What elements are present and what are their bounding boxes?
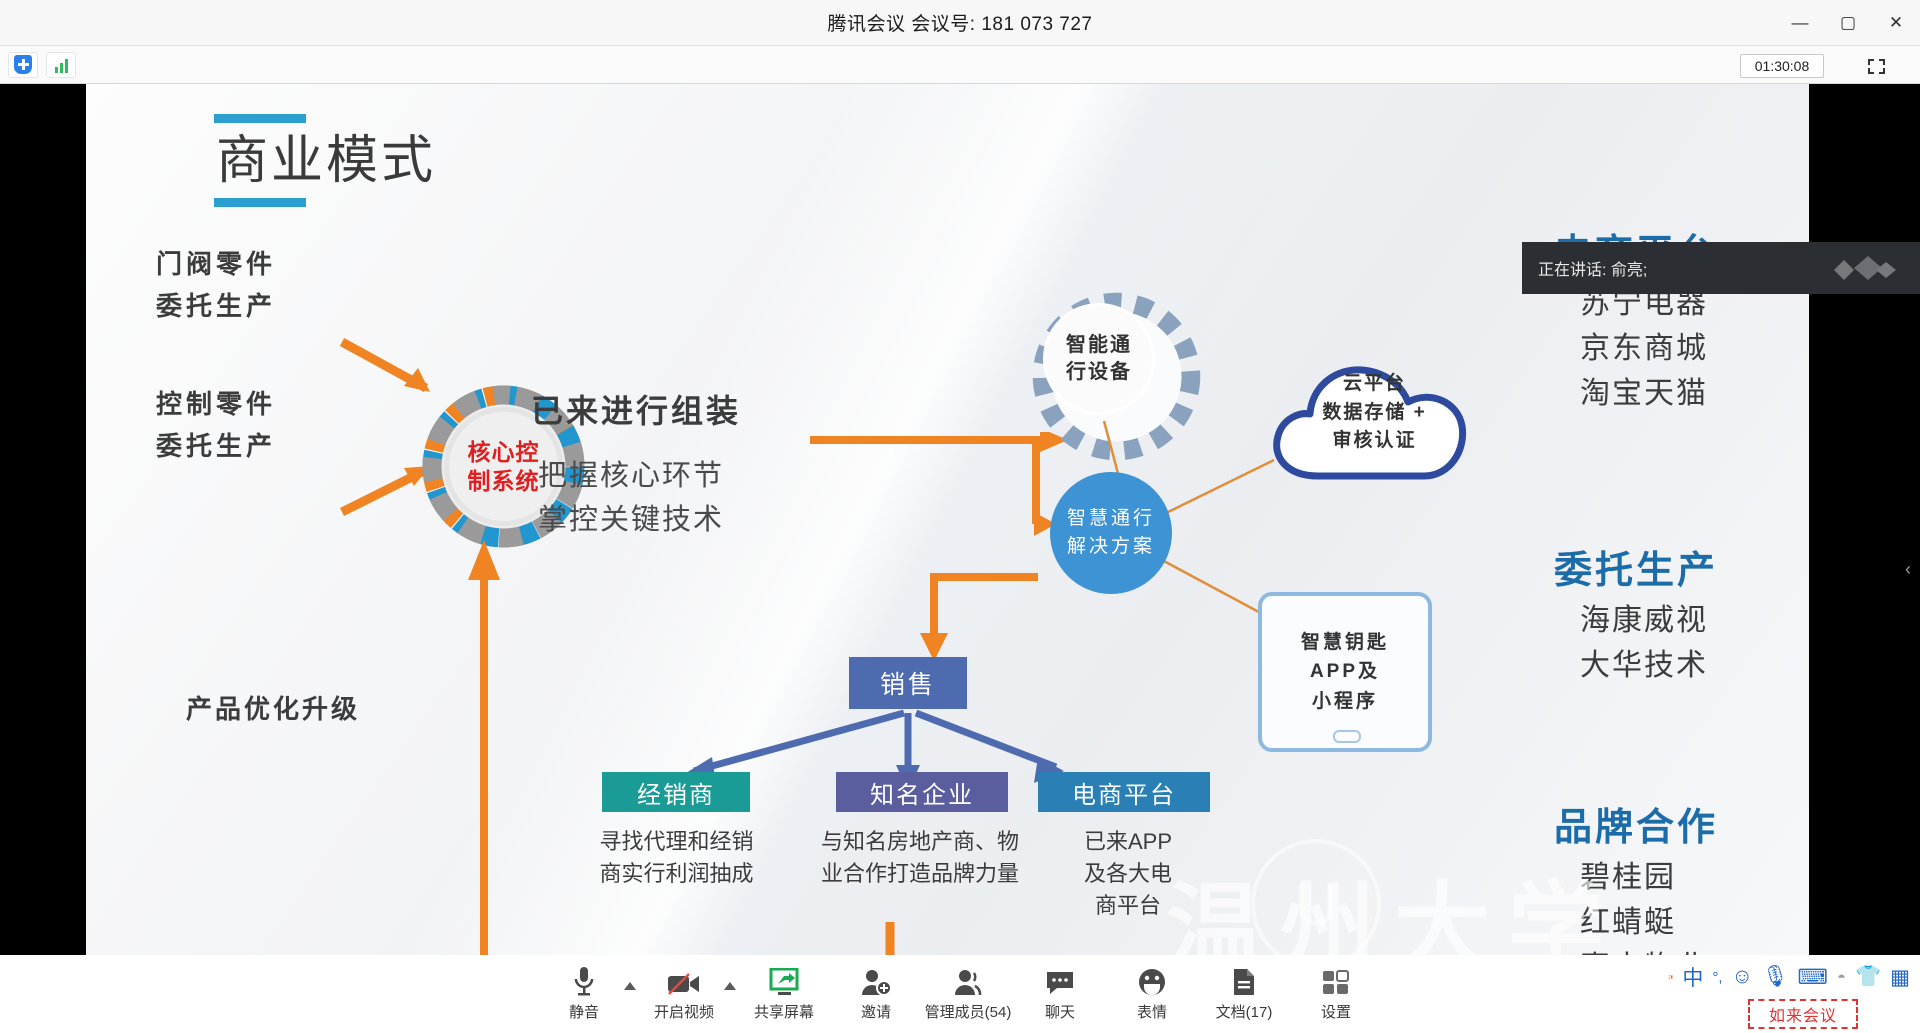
mute-button[interactable]: 静音 (538, 955, 630, 1033)
share-screen-button[interactable]: 共享屏幕 (738, 955, 830, 1033)
core-label-line1: 核心控 (468, 438, 540, 467)
document-icon (1232, 966, 1256, 996)
invite-button[interactable]: 邀请 (830, 955, 922, 1033)
smart-device-label: 智能通 行设备 (1043, 303, 1155, 415)
window-controls: — ▢ ✕ (1776, 0, 1920, 46)
ime-user-icon[interactable]: ◓ (1837, 969, 1846, 986)
ime-apps-icon[interactable]: ▦ (1890, 965, 1910, 990)
ime-emoji-icon[interactable]: ☺ (1732, 965, 1753, 989)
university-seal-watermark: U (1251, 839, 1381, 959)
sogou-logo-icon[interactable] (1668, 965, 1673, 989)
label-control-oem: 委托生产 (156, 426, 276, 463)
page-title: 商业模式 (214, 114, 436, 207)
right-group-oem: 委托生产 海康威视 大华技术 (1554, 549, 1809, 685)
enterprise-desc-2: 业合作打造品牌力量 (786, 858, 1054, 890)
settings-label: 设置 (1321, 1001, 1351, 1022)
window-title-bar: 腾讯会议 会议号: 181 073 727 — ▢ ✕ (0, 0, 1920, 46)
chat-label: 聊天 (1045, 1001, 1075, 1022)
close-button[interactable]: ✕ (1872, 0, 1920, 46)
label-product-upgrade: 产品优化升级 (186, 689, 360, 726)
tencent-meeting-logo-icon (1830, 254, 1902, 282)
right-item-jd: 京东商城 (1580, 329, 1809, 368)
right-group-heading-brand: 品牌合作 (1554, 806, 1809, 852)
share-screen-label: 共享屏幕 (754, 1001, 814, 1022)
settings-button[interactable]: 设置 (1290, 955, 1382, 1033)
ime-punctuation-icon[interactable]: °, (1712, 969, 1722, 986)
smart-device-line2: 行设备 (1066, 359, 1132, 386)
sogou-ime-toolbar: 中 °, ☺ 🎙 ⌨ ◓ 👕 ▦ (1658, 955, 1920, 999)
label-control-parts: 控制零件 (156, 384, 276, 421)
cloud-platform-label: 云平台 数据存储 + 审核认证 (1282, 370, 1467, 456)
settings-grid-icon (1322, 966, 1350, 996)
right-item-taobao: 淘宝天猫 (1580, 374, 1809, 413)
smart-access-device-node: 智能通 行设备 (1029, 289, 1169, 429)
manage-members-icon (953, 966, 983, 996)
ime-skin-icon[interactable]: 👕 (1855, 965, 1881, 989)
fullscreen-icon[interactable] (1860, 52, 1892, 80)
meeting-timer: 01:30:08 (1740, 54, 1824, 78)
minimize-button[interactable]: — (1776, 0, 1824, 46)
meeting-sub-toolbar: 01:30:08 (0, 46, 1920, 84)
emoji-icon (1138, 966, 1166, 996)
active-speaker-toast: 正在讲话: 俞亮; (1522, 242, 1920, 294)
assembly-line-1: 把握核心环节 (538, 452, 724, 494)
panel-collapse-handle[interactable]: ‹ (1900, 539, 1916, 599)
core-label-line2: 制系统 (468, 467, 540, 496)
mute-dropdown-caret[interactable] (624, 982, 636, 990)
label-menfa-oem: 委托生产 (156, 286, 276, 323)
microphone-icon (572, 966, 596, 996)
slide-title-text: 商业模式 (216, 131, 436, 192)
chat-icon (1045, 966, 1075, 996)
ime-mode-label[interactable]: 中 (1682, 962, 1703, 992)
solution-line-2: 解决方案 (1067, 533, 1155, 561)
maximize-button[interactable]: ▢ (1824, 0, 1872, 46)
ecommerce-desc-3: 商平台 (1064, 890, 1192, 922)
tablet-line-2: APP及 (1310, 657, 1380, 686)
active-speaker-label: 正在讲话: 俞亮; (1538, 256, 1647, 280)
emoji-button[interactable]: 表情 (1106, 955, 1198, 1033)
smart-solution-node: 智慧通行 解决方案 (1050, 472, 1172, 594)
label-menfa-parts: 门阀零件 (156, 244, 276, 281)
solution-line-1: 智慧通行 (1067, 505, 1155, 533)
invite-user-icon (861, 966, 891, 996)
meeting-bottom-toolbar: 静音 开启视频 共享屏幕 (0, 955, 1920, 1033)
channel-box-enterprise: 知名企业 (836, 772, 1008, 812)
assembly-heading: 已来进行组装 (531, 386, 741, 432)
presentation-slide: 商业模式 门阀零件 委托生产 控制零件 委托生产 产品优化升级 (86, 84, 1809, 959)
right-item-dahua: 大华技术 (1580, 646, 1809, 685)
title-bar-bottom (214, 198, 306, 207)
ime-keyboard-icon[interactable]: ⌨ (1798, 965, 1828, 990)
ecommerce-desc-1: 已来APP (1064, 826, 1192, 858)
smart-device-line1: 智能通 (1066, 332, 1132, 359)
sales-box: 销售 (849, 657, 967, 709)
arrow-enterprise-to-feedback (864, 922, 920, 959)
right-group-brand: 品牌合作 碧桂园 红蜻蜓 惠中物业 (1554, 806, 1809, 959)
document-button[interactable]: 文档(17) (1198, 955, 1290, 1033)
video-off-icon (667, 966, 701, 996)
right-item-countrygarden: 碧桂园 (1580, 858, 1809, 897)
shield-icon[interactable] (8, 52, 38, 78)
cloud-line-1: 云平台 (1282, 370, 1467, 399)
enterprise-desc-1: 与知名房地产商、物 (786, 826, 1054, 858)
document-label: 文档(17) (1216, 1001, 1273, 1022)
ecommerce-desc-2: 及各大电 (1064, 858, 1192, 890)
arrow-feedback-loop (376, 514, 716, 959)
meeting-title: 腾讯会议 会议号: 181 073 727 (828, 9, 1093, 36)
right-item-redDragonfly: 红蜻蜓 (1580, 903, 1809, 942)
manage-members-label: 管理成员(54) (925, 1001, 1012, 1022)
shared-screen-stage: 商业模式 门阀零件 委托生产 控制零件 委托生产 产品优化升级 (0, 84, 1920, 1033)
ime-candidate-note: 如来会议 (1748, 999, 1858, 1029)
share-screen-icon (769, 966, 799, 996)
mute-label: 静音 (569, 1001, 599, 1022)
cloud-line-2: 数据存储 + (1282, 399, 1467, 428)
right-item-hikvision: 海康威视 (1580, 601, 1809, 640)
title-bar-top (214, 114, 306, 123)
tablet-line-3: 小程序 (1312, 687, 1378, 716)
ime-voice-icon[interactable]: 🎙 (1762, 965, 1789, 989)
start-video-label: 开启视频 (654, 1001, 714, 1022)
right-group-heading-oem: 委托生产 (1554, 549, 1809, 595)
tablet-line-1: 智慧钥匙 (1301, 628, 1389, 657)
emoji-label: 表情 (1137, 1001, 1167, 1022)
invite-label: 邀请 (861, 1001, 891, 1022)
start-video-button[interactable]: 开启视频 (638, 955, 730, 1033)
smart-key-app-tablet: 智慧钥匙 APP及 小程序 (1258, 592, 1432, 752)
signal-bars-icon[interactable] (46, 52, 76, 78)
cloud-line-3: 审核认证 (1282, 427, 1467, 456)
manage-members-button[interactable]: 管理成员(54) (922, 955, 1014, 1033)
video-dropdown-caret[interactable] (724, 982, 736, 990)
channel-box-ecommerce: 电商平台 (1038, 772, 1210, 812)
chat-button[interactable]: 聊天 (1014, 955, 1106, 1033)
